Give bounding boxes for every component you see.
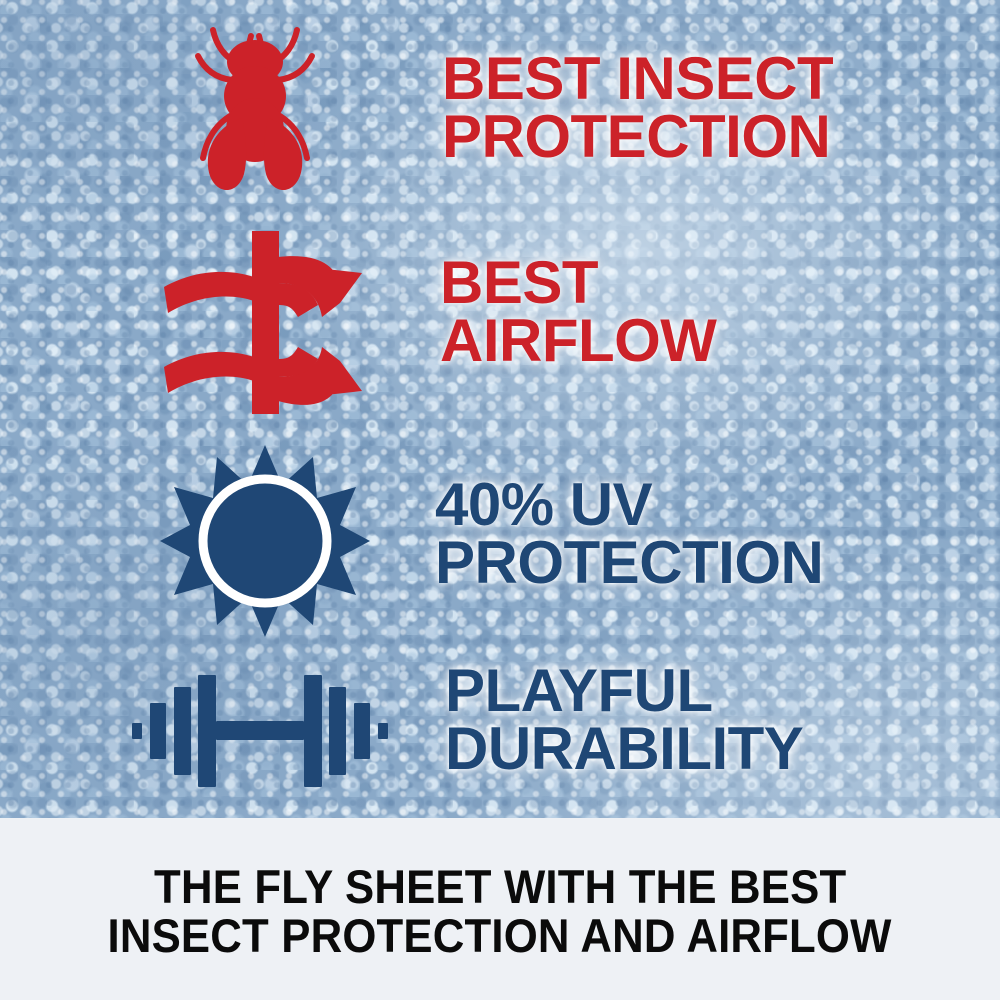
feature-row-airflow: BEST AIRFLOW (150, 222, 950, 422)
feature-row-durability: PLAYFUL DURABILITY (130, 650, 960, 810)
feature-row-insect-protection: BEST INSECT PROTECTION (180, 18, 980, 203)
fly-icon (180, 18, 330, 203)
airflow-arrows-icon (150, 225, 365, 420)
caption-bar: THE FLY SHEET WITH THE BEST INSECT PROTE… (0, 818, 1000, 1000)
feature-label-uv-protection: 40% UV PROTECTION (435, 476, 823, 591)
feature-label-airflow: BEST AIRFLOW (440, 254, 716, 369)
product-feature-infographic: BEST INSECT PROTECTION (0, 0, 1000, 1000)
feature-label-durability: PLAYFUL DURABILITY (445, 662, 803, 777)
feature-label-insect-protection: BEST INSECT PROTECTION (442, 50, 833, 165)
caption-line-1: THE FLY SHEET WITH THE BEST (154, 863, 846, 912)
feature-row-uv-protection: 40% UV PROTECTION (160, 438, 960, 643)
dumbbell-icon (130, 665, 390, 795)
caption-line-2: INSECT PROTECTION AND AIRFLOW (108, 912, 892, 961)
sun-icon (160, 441, 370, 641)
